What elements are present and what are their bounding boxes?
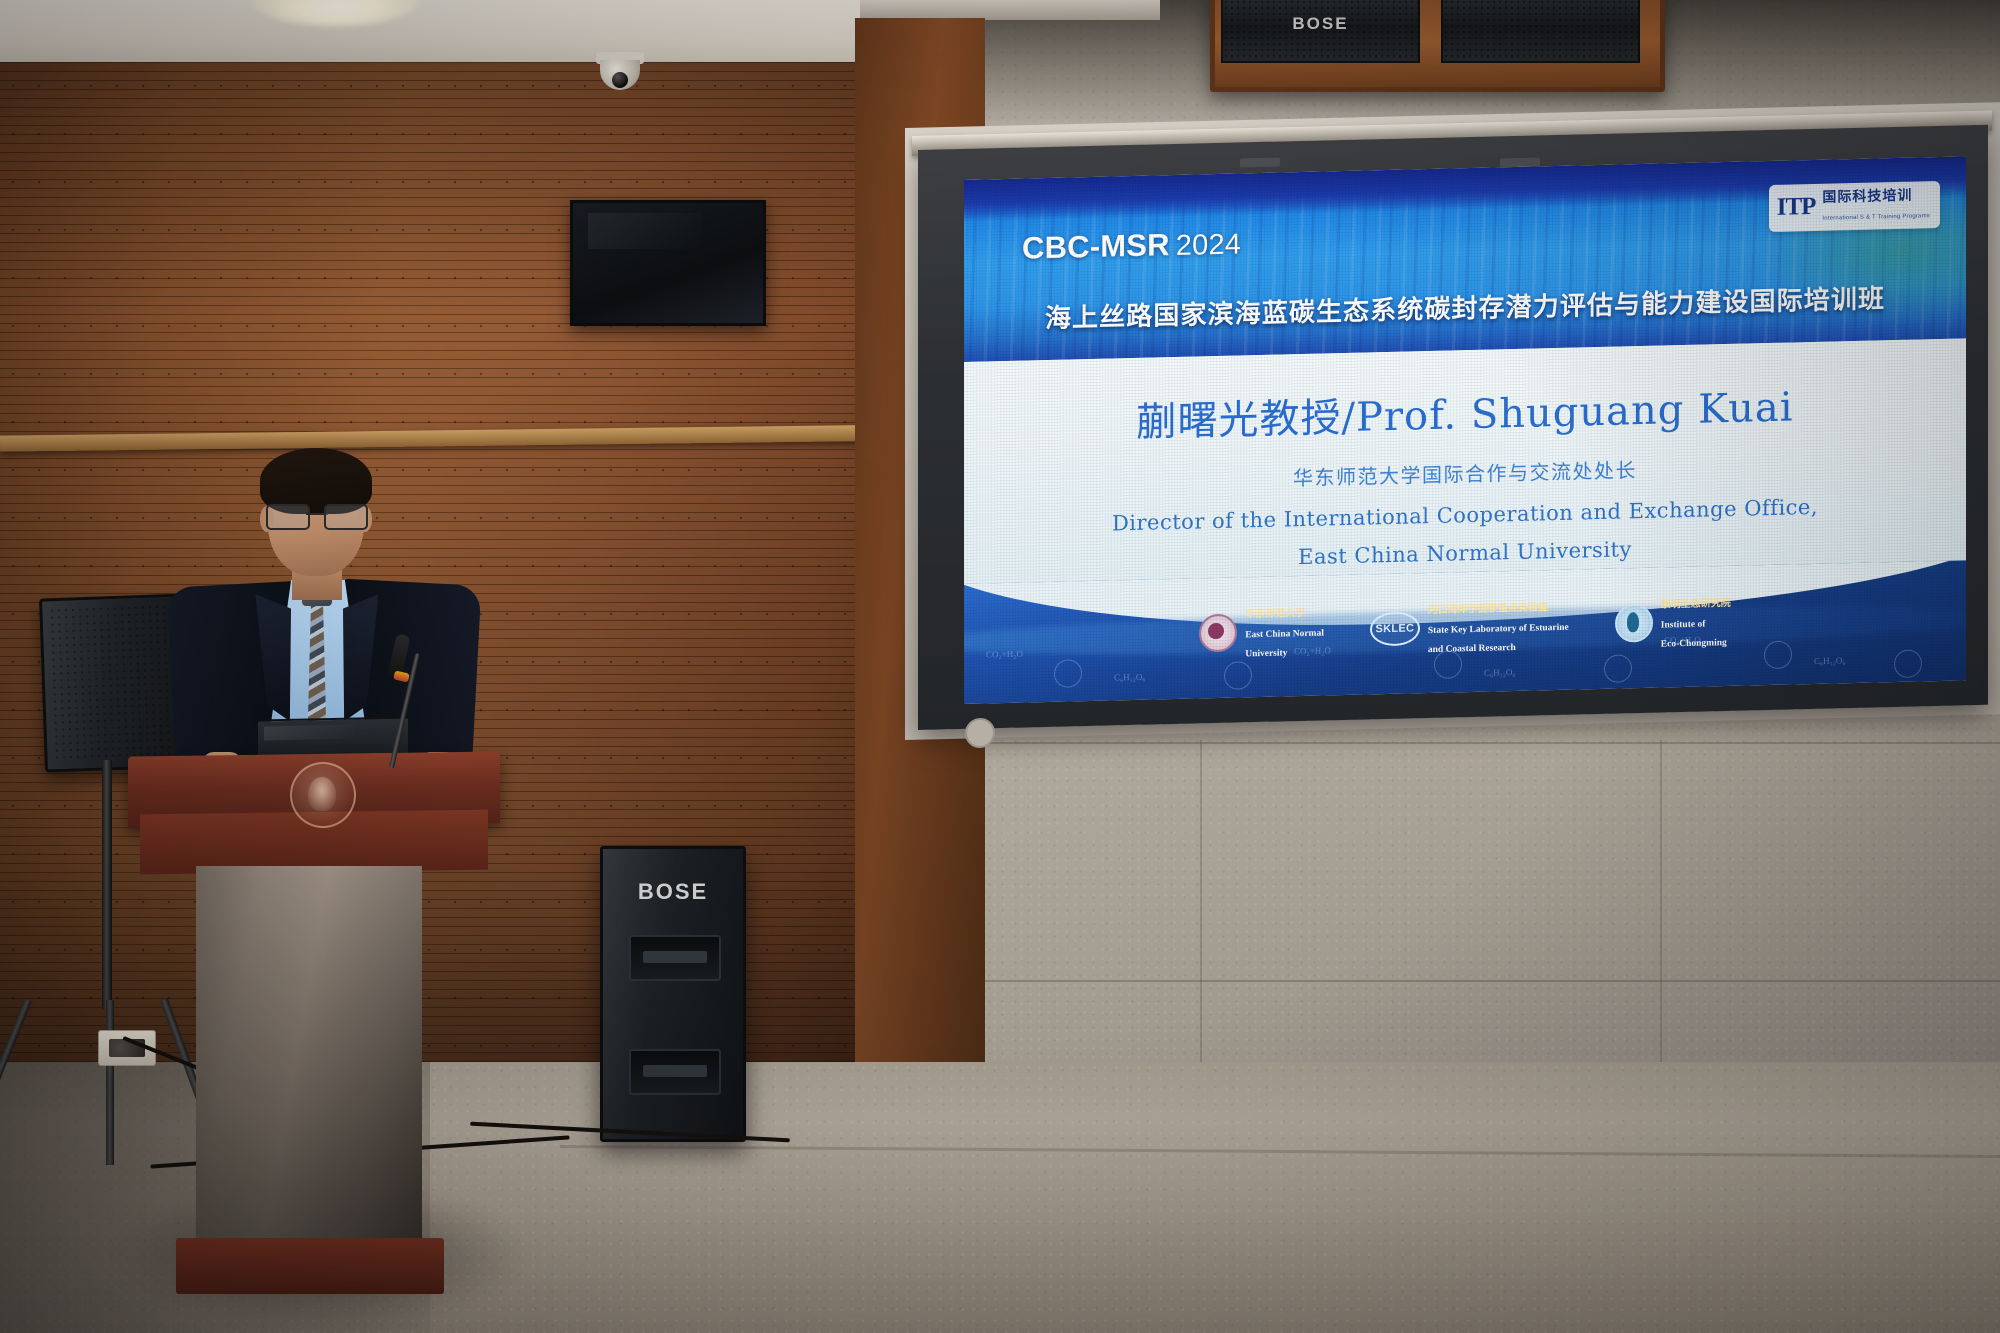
sklec-seal-icon: SKLEC (1370, 612, 1420, 647)
ceiling-speaker-right (1441, 0, 1640, 63)
logo-text-ecnu: 华东师范大学 East China Normal University (1245, 602, 1324, 662)
screen-clip (1240, 158, 1280, 168)
event-code-text: CBC-MSR (1022, 227, 1170, 265)
logo-en2-sklec: and Coastal Research (1428, 643, 1516, 655)
event-year: 2024 (1176, 228, 1241, 262)
logo-text-eco-chongming: 崇明生态研究院 Institute of Eco-Chongming (1661, 592, 1731, 652)
logo-en2-ecnu: University (1245, 648, 1287, 659)
bose-logo-subwoofer: BOSE (638, 879, 708, 905)
bose-logo-ceiling-left: BOSE (1292, 14, 1348, 34)
speaker-port (629, 935, 721, 981)
conference-hall-scene: BOSE CBC-MSR2024 ITP 国际科技培训 Internationa… (0, 0, 2000, 1333)
logo-en1-ecnu: East China Normal (1245, 628, 1324, 640)
eyeglasses-icon (266, 504, 368, 526)
speaker-stand-leg (106, 1000, 114, 1165)
podium-column (196, 866, 422, 1266)
logo-cn-eco: 崇明生态研究院 (1661, 598, 1731, 611)
itp-text: 国际科技培训 International S & T Training Prog… (1822, 186, 1930, 224)
event-code: CBC-MSR2024 (1022, 225, 1241, 266)
wall-seam (900, 742, 2000, 744)
logo-en1-eco: Institute of (1661, 619, 1706, 630)
speaker-name: 蒯曙光教授/Prof. Shuguang Kuai (964, 370, 1966, 452)
ecnu-seal-icon (1199, 614, 1237, 653)
logo-item-sklec: SKLEC 河口海岸学国家重点实验室 State Key Laboratory … (1370, 596, 1569, 659)
ceiling-light (250, 0, 420, 26)
eco-chongming-seal-icon (1615, 604, 1653, 643)
slide-header: CBC-MSR2024 ITP 国际科技培训 International S &… (964, 156, 1966, 362)
logo-en2-eco: Eco-Chongming (1661, 638, 1727, 650)
wall-seam (900, 980, 2000, 982)
wall-display-panel[interactable] (570, 200, 766, 326)
lens-left (266, 504, 310, 530)
itp-mark-icon: ITP (1777, 194, 1816, 220)
ceiling-speaker-enclosure: BOSE (1210, 0, 1665, 92)
ceiling-speaker-left: BOSE (1221, 0, 1420, 63)
speaker-stand-pole (102, 760, 112, 1010)
itp-english: International S & T Training Programs (1822, 213, 1930, 222)
camera-lens-icon (612, 72, 628, 88)
lens-right (324, 504, 368, 530)
affiliation-chinese: 华东师范大学国际合作与交流处处长 (964, 446, 1966, 499)
itp-badge: ITP 国际科技培训 International S & T Training … (1769, 181, 1940, 232)
ceiling-right-strip (860, 0, 1160, 20)
logo-cn-ecnu: 华东师范大学 (1245, 608, 1305, 620)
logo-cn-sklec: 河口海岸学国家重点实验室 (1428, 602, 1548, 616)
affiliation-english-line1: Director of the International Cooperatio… (964, 491, 1966, 539)
itp-chinese: 国际科技培训 (1822, 188, 1912, 206)
speaker-port (629, 1049, 721, 1095)
logo-en1-sklec: State Key Laboratory of Estuarine (1428, 622, 1569, 635)
floor-subwoofer: BOSE (600, 846, 746, 1142)
speaker-grill (1443, 0, 1638, 61)
logo-item-ecnu: 华东师范大学 East China Normal University (1199, 602, 1324, 663)
presentation-slide: CBC-MSR2024 ITP 国际科技培训 International S &… (964, 156, 1966, 704)
podium-emblem-icon (290, 762, 356, 828)
logo-item-eco-chongming: 崇明生态研究院 Institute of Eco-Chongming (1615, 592, 1731, 653)
podium-base (176, 1238, 444, 1294)
slide-footer: CO₂+H₂O C₆H₁₂O₆ CO₂+H₂O C₆H₁₂O₆ CO₂+H₂O … (964, 560, 1966, 704)
logo-text-sklec: 河口海岸学国家重点实验室 State Key Laboratory of Est… (1428, 596, 1569, 658)
